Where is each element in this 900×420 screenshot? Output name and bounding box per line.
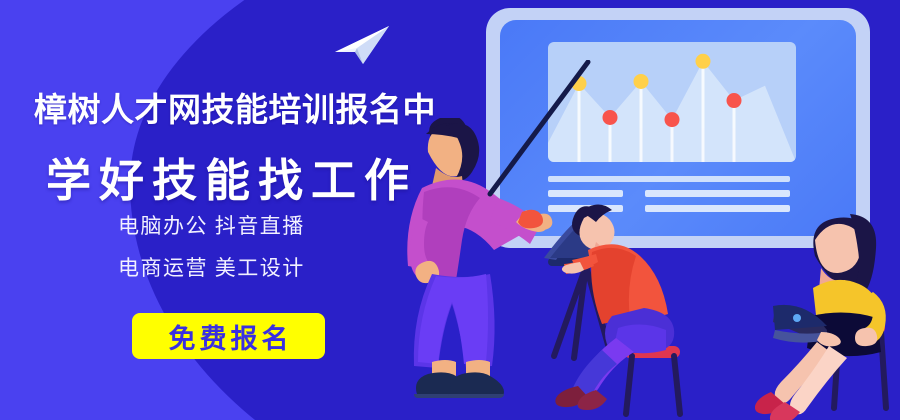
chart-marker-valley	[727, 93, 742, 108]
chart-marker-peak	[696, 54, 711, 69]
promo-banner: 樟树人才网技能培训报名中 学好技能找工作 电脑办公 抖音直播 电商运营 美工设计…	[0, 0, 900, 420]
free-signup-button[interactable]: 免费报名	[132, 313, 325, 359]
woman-with-laptop-figure	[755, 196, 900, 420]
headline-primary: 樟树人才网技能培训报名中	[34, 83, 436, 131]
headline-secondary: 学好技能找工作	[46, 144, 417, 209]
chart-marker-peak	[634, 74, 649, 89]
subtitle-line-1: 电脑办公 抖音直播	[118, 210, 305, 240]
free-signup-label: 免费报名	[165, 317, 293, 356]
chart-marker-valley	[665, 112, 680, 127]
subtitle-line-2: 电商运营 美工设计	[118, 252, 305, 282]
pointer-stick-icon	[470, 60, 600, 220]
chart-marker-valley	[603, 110, 618, 125]
